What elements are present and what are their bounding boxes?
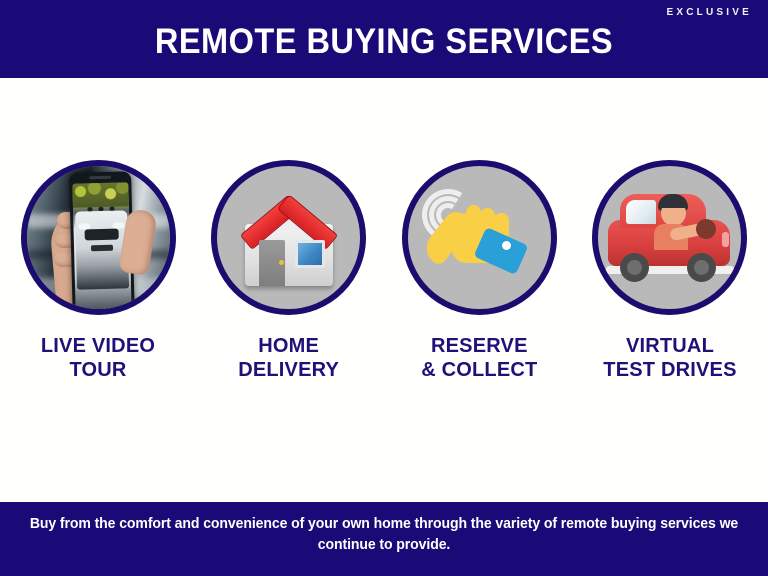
- photo-background: [27, 166, 170, 309]
- steering-wheel: [696, 219, 716, 239]
- tap-hand-graphic: [418, 183, 540, 293]
- service-label: RESERVE & COLLECT: [421, 334, 537, 382]
- screen-car-grille: [90, 245, 112, 252]
- car-wheel: [620, 253, 649, 282]
- service-item-home-delivery[interactable]: HOME DELIVERY: [201, 160, 377, 410]
- house-window: [295, 240, 325, 268]
- service-label: HOME DELIVERY: [238, 334, 339, 382]
- car-rear-window: [626, 200, 656, 224]
- tapping-hand-icon: [402, 160, 557, 315]
- screen-car-grille: [84, 229, 118, 241]
- footer-message: Buy from the comfort and convenience of …: [12, 514, 757, 556]
- brand-tag: EXCLUSIVE: [667, 7, 752, 19]
- service-label-line1: RESERVE: [431, 335, 528, 357]
- header-band: EXCLUSIVE REMOTE BUYING SERVICES: [0, 0, 768, 78]
- screen-foliage: [72, 182, 129, 207]
- service-label: LIVE VIDEO TOUR: [41, 334, 155, 382]
- service-label-line1: HOME: [258, 335, 319, 357]
- services-row: LIVE VIDEO TOUR HOME DELIVERY: [0, 160, 768, 410]
- screen-car-vents: [86, 207, 114, 212]
- service-label-line1: VIRTUAL: [626, 335, 714, 357]
- service-label-line1: LIVE VIDEO: [41, 335, 155, 357]
- service-item-virtual-test-drives[interactable]: VIRTUAL TEST DRIVES: [582, 160, 758, 410]
- service-label-line2: & COLLECT: [421, 358, 537, 382]
- phone-in-hand-video-icon: [21, 160, 176, 315]
- car-with-driver-icon: [592, 160, 747, 315]
- service-label-line2: DELIVERY: [238, 358, 339, 382]
- driver-fringe: [660, 199, 687, 208]
- service-label-line2: TOUR: [41, 358, 155, 382]
- house-graphic: [229, 184, 349, 292]
- footer-band: Buy from the comfort and convenience of …: [0, 502, 768, 576]
- house-door-knob: [279, 260, 284, 265]
- phone-earpiece: [89, 176, 111, 180]
- service-item-live-video-tour[interactable]: LIVE VIDEO TOUR: [10, 160, 186, 410]
- car-graphic: [604, 186, 736, 290]
- service-label-line2: TEST DRIVES: [603, 358, 736, 382]
- service-item-reserve-and-collect[interactable]: RESERVE & COLLECT: [391, 160, 567, 410]
- car-wheel: [687, 253, 716, 282]
- footer-line1: Buy from the comfort and convenience of …: [30, 516, 716, 532]
- house-icon: [211, 160, 366, 315]
- hand-cuff-button: [502, 241, 511, 250]
- car-headlight: [722, 232, 729, 247]
- service-label: VIRTUAL TEST DRIVES: [603, 334, 736, 382]
- slide-root: EXCLUSIVE REMOTE BUYING SERVICES: [0, 0, 768, 576]
- page-title: REMOTE BUYING SERVICES: [27, 22, 741, 62]
